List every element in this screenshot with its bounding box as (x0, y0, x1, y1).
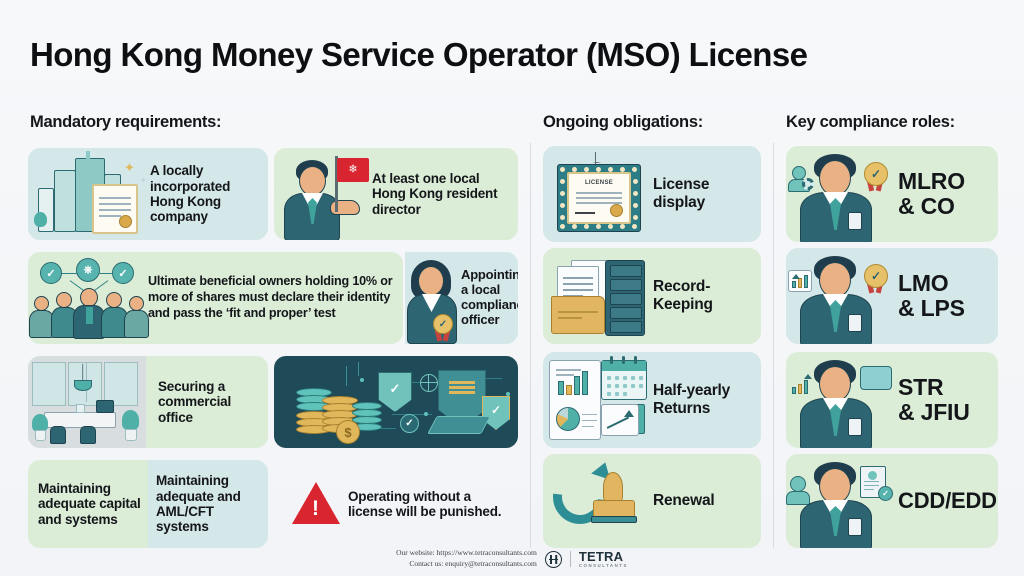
officer-chart-document-icon: ✓ (786, 248, 898, 344)
speech-bubble-icon (860, 366, 892, 390)
column-divider-1 (530, 143, 531, 548)
card-renewal-text: Renewal (653, 492, 715, 510)
card-commercial-office-text: Securing a commercial office (146, 379, 268, 425)
card-aml-text: Maintaining adequate and AML/CFT systems (148, 473, 268, 535)
card-ubo-declaration-text: Ultimate beneficial owners holding 10% o… (148, 274, 403, 322)
logo-name: TETRA (579, 550, 628, 563)
logo-divider (570, 551, 571, 567)
card-role-mlro-co-text: MLRO & CO (898, 169, 965, 219)
footer-contact-lines: Our website: https://www.tetraconsultant… (396, 548, 537, 570)
folder-filing-cabinet-icon (543, 248, 653, 344)
card-compliance-officer-text: Appointing a local compliance officer (461, 268, 518, 327)
footer-contact[interactable]: Contact us: enquiry@tetraconsultants.com (396, 559, 537, 570)
card-ubo-declaration: ✓ ✓ ⎈ Ultimate beneficial owners holding… (28, 252, 403, 344)
card-compliance-officer: ✓ Appointing a local compliance officer (405, 252, 518, 344)
card-resident-director-text: At least one local Hong Kong resident di… (372, 171, 518, 217)
commercial-office-interior-icon (28, 356, 146, 448)
card-role-lmo-lps: ✓ LMO & LPS (786, 248, 998, 344)
card-record-keeping: Record-Keeping (543, 248, 761, 344)
officer-badge-document-icon: ✓ (786, 146, 898, 242)
card-locally-incorporated: ✦ ✦ A locally incorporated Hong Kong com… (28, 148, 268, 240)
card-record-keeping-text: Record-Keeping (653, 278, 761, 313)
tetra-logo-text: TETRA CONSULTANTS (579, 550, 628, 569)
card-license-display-text: License display (653, 176, 761, 211)
coins-shields-network-icon: $ ✓ ✓ ✓ (274, 356, 518, 448)
card-capital-aml-split: Maintaining adequate capital and systems… (28, 460, 268, 548)
card-financial-security-illustration: $ ✓ ✓ ✓ (274, 356, 518, 448)
card-license-display: LICENSE License display (543, 146, 761, 242)
card-aml-half: Maintaining adequate and AML/CFT systems (148, 460, 268, 548)
card-half-yearly-returns: Half-yearly Returns (543, 352, 761, 448)
card-renewal: Renewal (543, 454, 761, 548)
card-warning-text: Operating without a license will be puni… (348, 489, 518, 520)
businessman-hong-kong-flag-icon: ❄ (274, 148, 372, 240)
card-capital-half: Maintaining adequate capital and systems (28, 460, 148, 548)
role-line-1: LMO (898, 271, 965, 296)
people-network-check-icon: ✓ ✓ ⎈ (28, 252, 148, 344)
card-role-str-jfiu-text: STR & JFIU (898, 375, 970, 425)
footer: Our website: https://www.tetraconsultant… (0, 548, 1024, 570)
role-line-1: MLRO (898, 169, 965, 194)
role-line-2: & CO (898, 194, 965, 219)
officer-verify-document-icon: ✓ (786, 454, 898, 548)
column-divider-2 (773, 143, 774, 548)
report-calendar-chart-icon (543, 352, 653, 448)
role-line-2: & JFIU (898, 400, 970, 425)
framed-license-certificate-icon: LICENSE (543, 146, 653, 242)
footer-website[interactable]: Our website: https://www.tetraconsultant… (396, 548, 537, 559)
card-resident-director: ❄ At least one local Hong Kong resident … (274, 148, 518, 240)
section-heading-ongoing: Ongoing obligations: (543, 113, 703, 132)
tetra-logo-icon (545, 551, 562, 568)
section-heading-mandatory: Mandatory requirements: (30, 113, 221, 132)
compliance-officer-badge-icon: ✓ (405, 252, 461, 344)
role-line-1: CDD/EDD (898, 489, 997, 513)
card-half-yearly-returns-text: Half-yearly Returns (653, 382, 761, 417)
role-line-2: & LPS (898, 296, 965, 321)
officer-report-gear-icon (786, 352, 898, 448)
card-locally-incorporated-text: A locally incorporated Hong Kong company (150, 163, 268, 225)
office-building-certificate-icon: ✦ ✦ (28, 148, 150, 240)
warning-triangle-icon: ! (286, 466, 348, 542)
refresh-stamp-icon (543, 454, 653, 548)
logo-subtitle: CONSULTANTS (579, 564, 628, 568)
card-commercial-office: Securing a commercial office (28, 356, 268, 448)
section-heading-roles: Key compliance roles: (786, 113, 955, 132)
card-role-str-jfiu: STR & JFIU (786, 352, 998, 448)
card-capital-text: Maintaining adequate capital and systems (28, 481, 148, 527)
card-operating-without-license-warning: ! Operating without a license will be pu… (286, 466, 518, 542)
infographic-page: Hong Kong Money Service Operator (MSO) L… (0, 0, 1024, 576)
card-role-cdd-edd: ✓ CDD/EDD (786, 454, 998, 548)
card-role-mlro-co: ✓ MLRO & CO (786, 146, 998, 242)
role-line-1: STR (898, 375, 970, 400)
page-title: Hong Kong Money Service Operator (MSO) L… (30, 36, 807, 74)
card-role-cdd-edd-text: CDD/EDD (898, 489, 997, 513)
card-role-lmo-lps-text: LMO & LPS (898, 271, 965, 321)
